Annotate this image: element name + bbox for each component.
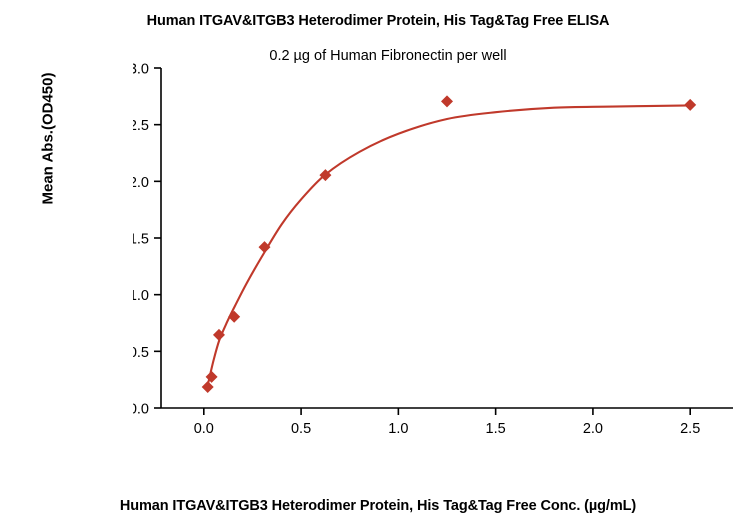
x-tick-label: 1.0	[388, 421, 408, 437]
fit-curve	[208, 105, 691, 385]
y-axis-label: Mean Abs.(OD450)	[40, 39, 57, 239]
y-tick-label: 3.0	[133, 62, 149, 78]
x-tick-label: 2.5	[680, 421, 700, 437]
data-point-marker	[228, 311, 240, 323]
x-tick-label: 2.0	[583, 421, 603, 437]
chart-container: Human ITGAV&ITGB3 Heterodimer Protein, H…	[0, 0, 756, 527]
y-tick-label: 0.5	[133, 345, 149, 361]
chart-title: Human ITGAV&ITGB3 Heterodimer Protein, H…	[0, 13, 756, 29]
fit-curve-path	[208, 105, 691, 385]
y-axis-ticks: 0.00.51.01.52.02.53.0	[133, 62, 161, 418]
data-point-marker	[206, 371, 218, 383]
y-tick-label: 2.5	[133, 118, 149, 134]
x-axis-ticks: 0.00.51.01.52.02.5	[194, 408, 701, 437]
data-points	[202, 95, 697, 393]
x-axis-label: Human ITGAV&ITGB3 Heterodimer Protein, H…	[0, 498, 756, 514]
x-tick-label: 0.5	[291, 421, 311, 437]
data-point-marker	[259, 241, 271, 253]
y-tick-label: 0.0	[133, 402, 149, 418]
y-tick-label: 1.5	[133, 232, 149, 248]
data-point-marker	[202, 381, 214, 393]
y-tick-label: 1.0	[133, 288, 149, 304]
plot-svg: 0.00.51.01.52.02.53.0 0.00.51.01.52.02.5	[133, 62, 738, 442]
x-tick-label: 1.5	[486, 421, 506, 437]
y-tick-label: 2.0	[133, 175, 149, 191]
data-point-marker	[684, 99, 696, 111]
data-point-marker	[441, 95, 453, 107]
plot-area: 0.00.51.01.52.02.53.0 0.00.51.01.52.02.5	[133, 62, 738, 442]
x-tick-label: 0.0	[194, 421, 214, 437]
